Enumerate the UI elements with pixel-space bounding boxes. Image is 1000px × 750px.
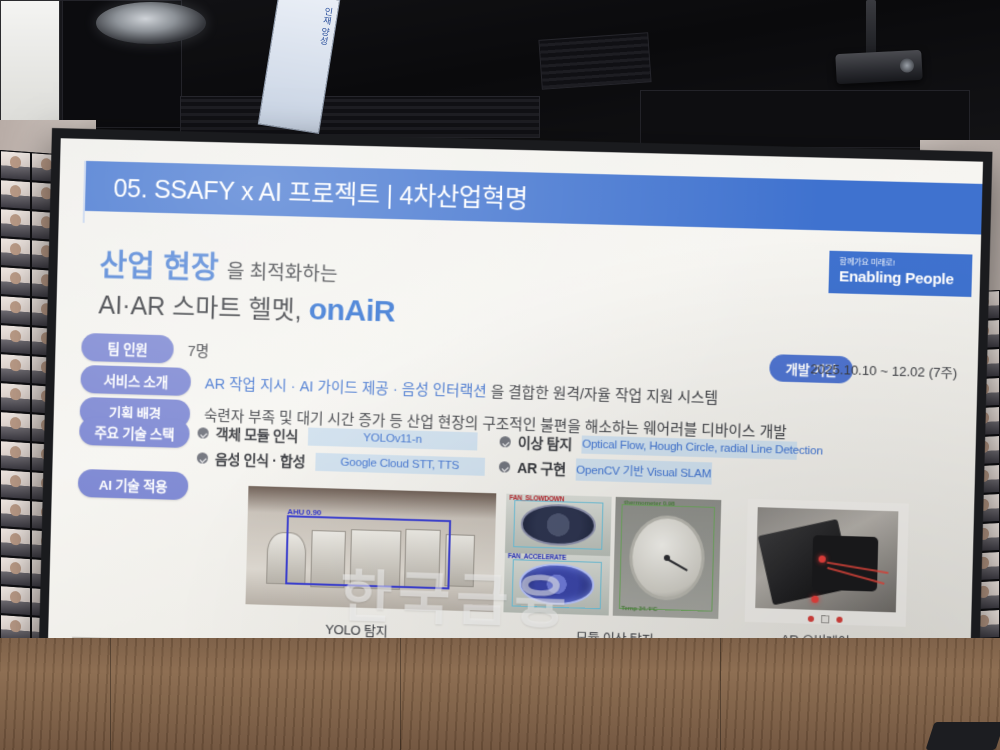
tech-chip: Optical Flow, Hough Circle, radial Line …: [582, 435, 798, 459]
gauge-temp-label: Temp 34.4°C: [621, 606, 657, 613]
thumbnail-fan-anomaly: FAN_SLOWDOWN FAN_ACCELERATE: [503, 494, 611, 616]
photo-of-presentation-screen: 인재 양성 함께 People 05. SSAFY x AI 프로젝트 | 4차…: [0, 0, 1000, 750]
ceiling-vent: [538, 32, 651, 90]
ar-marker-icon: [812, 596, 819, 603]
record-dot-icon: [836, 617, 842, 623]
thumbnail-gauge-reading: thermometer 0.98 Temp 34.4°C: [613, 497, 722, 619]
floor: [0, 638, 1000, 750]
capture-square-icon: [821, 615, 829, 623]
portrait-photo: [0, 382, 31, 413]
portrait-photo: [0, 556, 31, 587]
tech-chip: Google Cloud STT, TTS: [315, 452, 485, 475]
detection-label: AHU 0.90: [287, 507, 321, 517]
demo-thumbnails: AHU 0.90 FAN_SLOWDOWN FAN_ACCELERATE: [49, 478, 974, 635]
tech-name: 음성 인식 · 합성: [215, 448, 306, 471]
headline-prefix: AI·AR 스마트 헬멧,: [98, 291, 302, 325]
headline-emphasis: 산업 현장: [99, 248, 219, 284]
slide-title-bar: 05. SSAFY x AI 프로젝트 | 4차산업혁명: [83, 161, 983, 235]
tech-name: AR 구현: [517, 457, 566, 479]
product-brand-name: onAiR: [308, 293, 395, 328]
portrait-photo: [0, 266, 31, 297]
wall-sign-upper-left: [0, 0, 60, 128]
portrait-photo: [0, 353, 31, 384]
check-circle-icon: [500, 436, 511, 447]
value-service: AR 작업 지시 · AI 가이드 제공 · 음성 인터랙션 을 결합한 원격/…: [205, 372, 719, 408]
slide-surface: 05. SSAFY x AI 프로젝트 | 4차산업혁명 함께가요 미래로! E…: [48, 138, 983, 684]
label-pill-tech-stack: 주요 기술 스택: [79, 417, 190, 448]
portrait-photo: [0, 440, 31, 471]
tech-item-speech: 음성 인식 · 합성 Google Cloud STT, TTS: [197, 448, 500, 477]
tech-chip: YOLOv11-n: [308, 427, 478, 450]
check-circle-icon: [197, 427, 208, 438]
portrait-photo: [0, 295, 31, 326]
value-period: 2025.10.10 ~ 12.02 (7주): [810, 358, 957, 381]
portrait-photo: [0, 150, 31, 181]
check-circle-icon: [197, 452, 208, 463]
portrait-photo: [0, 585, 31, 616]
ar-control-row: [745, 613, 906, 626]
headline-line-1: 산업 현장 을 최적화하는: [99, 239, 338, 290]
portrait-photo: [0, 498, 31, 529]
portrait-photo: [0, 208, 31, 239]
detection-bounding-box: [286, 516, 451, 590]
floor-object: [925, 722, 1000, 750]
tech-item-ar: AR 구현 OpenCV 기반 Visual SLAM: [499, 456, 712, 484]
portrait-photo: [0, 324, 31, 355]
caption-yolo: YOLO 탐지: [325, 619, 387, 640]
check-circle-icon: [499, 461, 510, 472]
portrait-photo: [0, 411, 31, 442]
portrait-photo: [0, 469, 31, 500]
projector-lens-icon: [900, 58, 915, 73]
ceiling-light-icon: [96, 2, 206, 44]
tech-name: 객체 모듈 인식: [215, 423, 298, 445]
projector: [835, 50, 922, 84]
headline-rest: 을 최적화하는: [227, 262, 338, 286]
projection-screen: 05. SSAFY x AI 프로젝트 | 4차산업혁명 함께가요 미래로! E…: [38, 128, 992, 703]
label-pill-service: 서비스 소개: [80, 365, 191, 396]
ar-marker-icon: [818, 555, 825, 562]
value-team-size: 7명: [187, 339, 209, 361]
tech-name: 이상 탐지: [518, 432, 573, 454]
record-dot-icon: [808, 616, 814, 622]
page-title: 05. SSAFY x AI 프로젝트 | 4차산업혁명: [113, 169, 528, 216]
projector-mount: [866, 0, 876, 56]
ar-scene: [755, 507, 898, 612]
tech-chip: OpenCV 기반 Visual SLAM: [575, 458, 711, 484]
logo-name: Enabling People: [839, 268, 962, 288]
headline-line-2: AI·AR 스마트 헬멧, onAiR: [98, 285, 395, 329]
value-service-blue: AR 작업 지시 · AI 가이드 제공 · 음성 인터랙션: [205, 376, 487, 400]
portrait-photo: [0, 237, 31, 268]
thumbnail-yolo-detection: AHU 0.90: [245, 486, 496, 612]
value-service-dark: 을 결합한 원격/자율 작업 지원 시스템: [490, 384, 718, 407]
thumbnail-ar-overlay: [745, 499, 909, 627]
slide-content: 05. SSAFY x AI 프로젝트 | 4차산업혁명 함께가요 미래로! E…: [48, 138, 983, 684]
label-pill-team: 팀 인원: [81, 333, 174, 364]
enabling-people-logo: 함께가요 미래로! Enabling People: [828, 251, 972, 297]
portrait-photo: [0, 179, 31, 210]
portrait-photo: [0, 527, 31, 558]
